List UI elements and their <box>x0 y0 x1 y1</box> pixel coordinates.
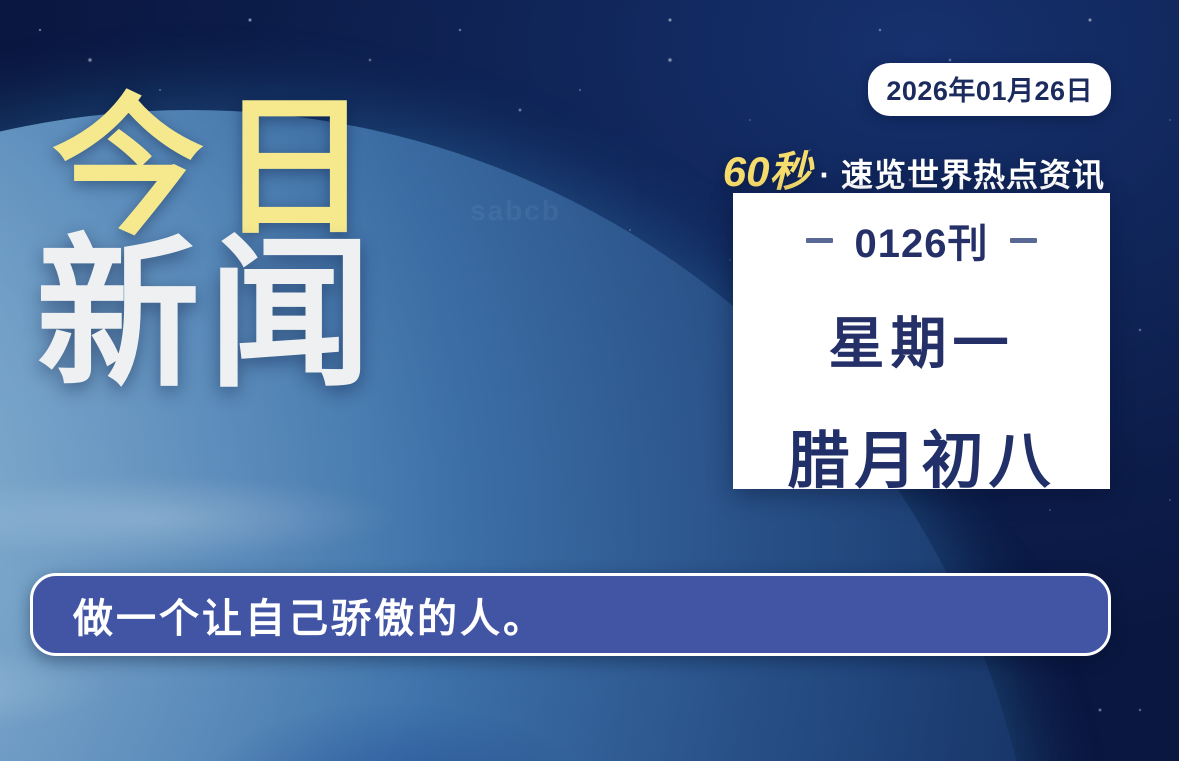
background-watermark: sabcb <box>470 195 561 227</box>
tagline-rest: · 速览世界热点资讯 <box>819 150 1105 196</box>
headline-line-news: 新闻 <box>36 236 384 393</box>
info-card: 0126刊 星期一 腊月初八 <box>733 193 1110 489</box>
headline-block: 今日 新闻 <box>52 96 384 393</box>
weekday-label: 星期一 <box>829 299 1015 380</box>
dash-right-icon <box>1010 238 1037 243</box>
date-badge: 2026年01月26日 <box>868 63 1111 116</box>
dash-left-icon <box>806 238 833 243</box>
quote-text: 做一个让自己骄傲的人。 <box>73 586 546 644</box>
lunar-date-label: 腊月初八 <box>787 410 1055 500</box>
issue-number: 0126刊 <box>855 211 989 269</box>
poster-stage: sabcb 今日 新闻 2026年01月26日 60秒 · 速览世界热点资讯 0… <box>0 0 1179 761</box>
tagline-highlight: 60秒 <box>723 138 812 199</box>
headline-line-today: 今日 <box>52 96 384 242</box>
tagline: 60秒 · 速览世界热点资讯 <box>723 138 1105 199</box>
issue-row: 0126刊 <box>806 211 1038 269</box>
quote-bar: 做一个让自己骄傲的人。 <box>30 573 1111 656</box>
